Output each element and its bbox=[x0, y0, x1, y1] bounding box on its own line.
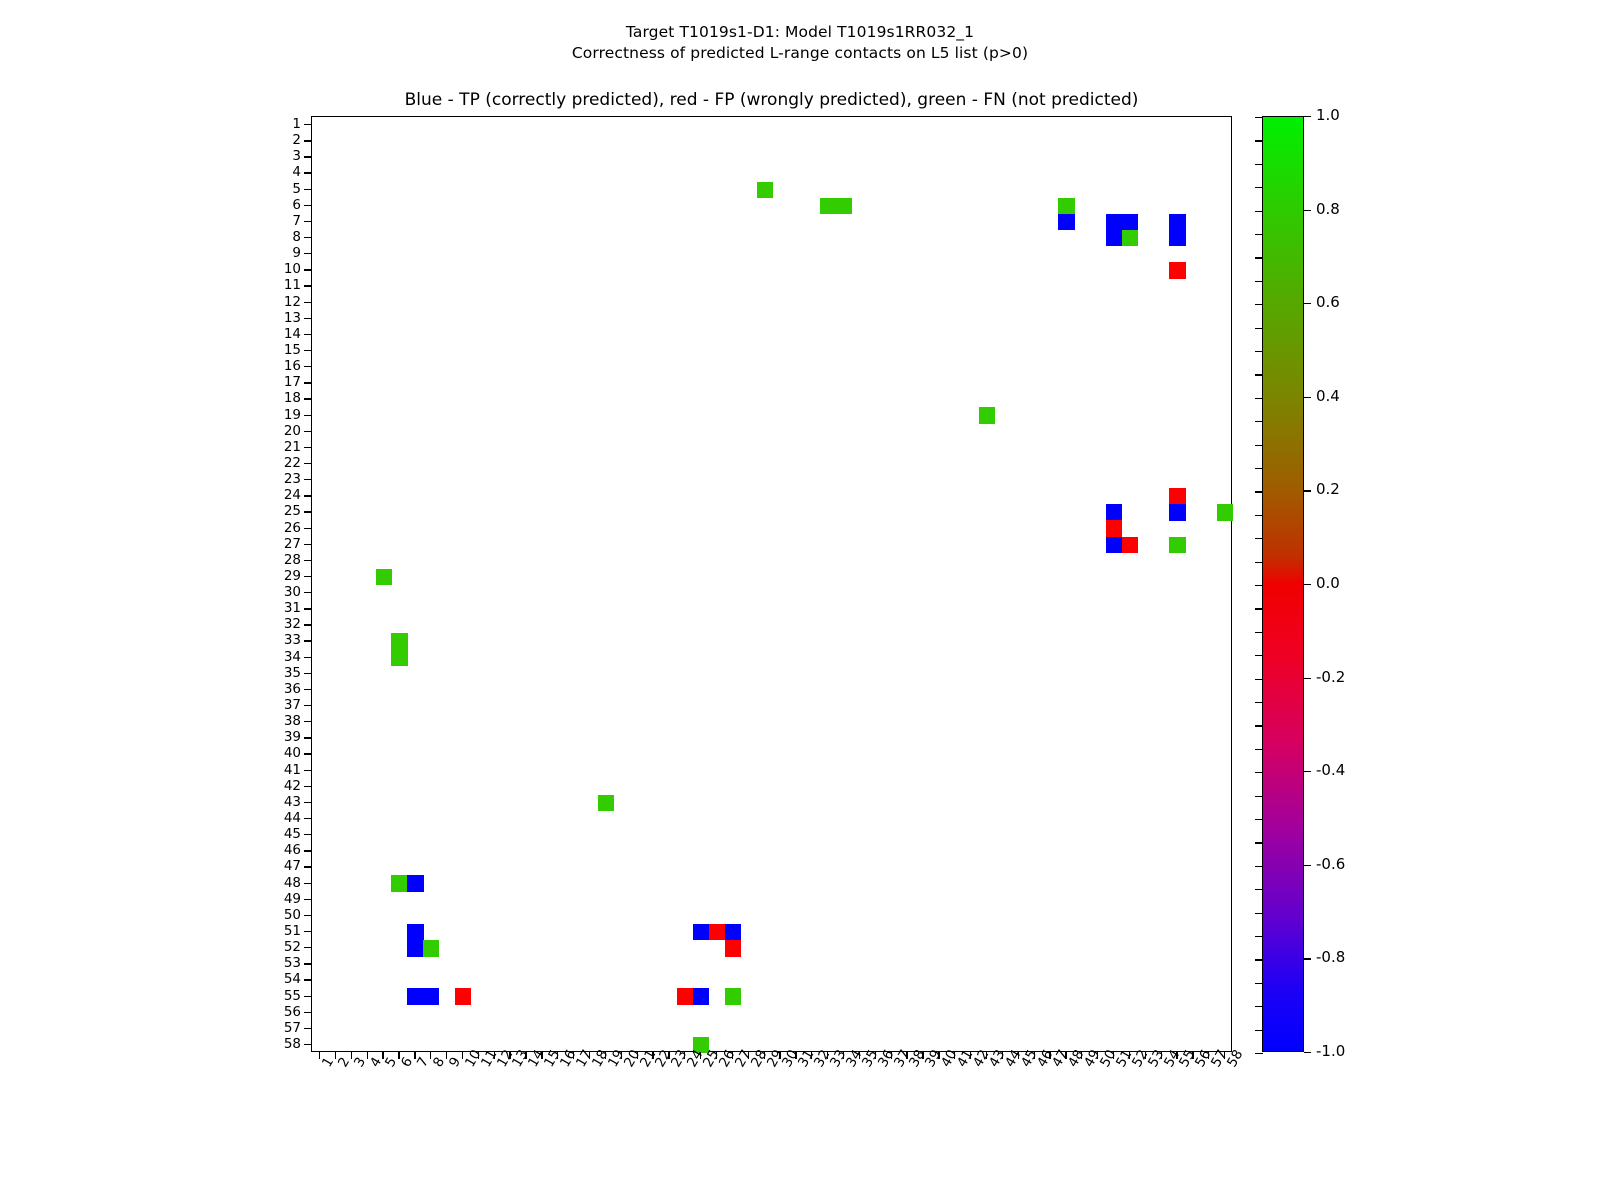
y-tick-mark bbox=[304, 608, 311, 609]
colorbar-minor-tick bbox=[1255, 1006, 1263, 1007]
colorbar-minor-tick bbox=[1255, 796, 1263, 797]
y-tick-mark bbox=[304, 915, 311, 916]
colorbar-tick-mark bbox=[1304, 397, 1311, 398]
colorbar-gradient bbox=[1262, 116, 1304, 1052]
colorbar-minor-tick bbox=[1255, 140, 1263, 141]
contact-cell bbox=[1169, 262, 1185, 279]
y-tick-mark bbox=[304, 979, 311, 980]
y-tick-mark bbox=[304, 996, 311, 997]
colorbar-minor-tick bbox=[1255, 491, 1263, 492]
colorbar-tick-mark bbox=[1304, 490, 1311, 491]
colorbar-tick-label: -0.6 bbox=[1316, 855, 1345, 873]
y-tick-mark bbox=[304, 1028, 311, 1029]
contact-cell bbox=[1169, 504, 1185, 521]
contact-cells-layer bbox=[312, 117, 1231, 1051]
y-tick-mark bbox=[304, 156, 311, 157]
contact-cell bbox=[1169, 537, 1185, 554]
y-tick-mark bbox=[304, 1044, 311, 1045]
colorbar-minor-tick bbox=[1255, 632, 1263, 633]
colorbar-minor-tick bbox=[1255, 187, 1263, 188]
colorbar-minor-tick bbox=[1255, 772, 1263, 773]
y-tick-mark bbox=[304, 253, 311, 254]
axes-title-legend: Blue - TP (correctly predicted), red - F… bbox=[311, 90, 1232, 110]
y-tick-mark bbox=[304, 431, 311, 432]
colorbar-minor-tick bbox=[1255, 538, 1263, 539]
y-tick-mark bbox=[304, 592, 311, 593]
colorbar-minor-tick bbox=[1255, 374, 1263, 375]
x-tick-mark bbox=[1145, 1052, 1146, 1059]
colorbar-minor-tick bbox=[1255, 1053, 1263, 1054]
colorbar-minor-tick bbox=[1255, 608, 1263, 609]
y-tick-mark bbox=[304, 221, 311, 222]
contact-cell bbox=[423, 940, 439, 957]
colorbar-tick-mark bbox=[1304, 584, 1311, 585]
colorbar-minor-tick bbox=[1255, 562, 1263, 563]
y-tick-mark bbox=[304, 140, 311, 141]
y-tick-mark bbox=[304, 479, 311, 480]
colorbar-minor-ticks bbox=[1249, 117, 1263, 1053]
colorbar-tick-mark bbox=[1304, 116, 1311, 117]
y-tick-mark bbox=[304, 528, 311, 529]
colorbar-minor-tick bbox=[1255, 866, 1263, 867]
y-tick-mark bbox=[304, 382, 311, 383]
y-tick-mark bbox=[304, 1012, 311, 1013]
colorbar-tick-label: -0.8 bbox=[1316, 948, 1345, 966]
colorbar-minor-tick bbox=[1255, 117, 1263, 118]
contact-cell bbox=[391, 633, 407, 650]
x-tick-mark bbox=[494, 1052, 495, 1059]
y-tick-mark bbox=[304, 883, 311, 884]
colorbar-minor-tick bbox=[1255, 211, 1263, 212]
colorbar-tick-mark bbox=[1304, 210, 1311, 211]
y-tick-mark bbox=[304, 269, 311, 270]
y-tick-mark bbox=[304, 495, 311, 496]
contact-cell bbox=[1122, 537, 1138, 554]
x-tick-mark bbox=[621, 1052, 622, 1059]
y-tick-mark bbox=[304, 544, 311, 545]
y-tick-mark bbox=[304, 931, 311, 932]
contact-cell bbox=[1106, 230, 1122, 247]
contact-map-figure: Target T1019s1-D1: Model T1019s1RR032_1 … bbox=[0, 0, 1600, 1200]
suptitle-line-1: Target T1019s1-D1: Model T1019s1RR032_1 bbox=[0, 22, 1600, 43]
colorbar-tick-label: 0.6 bbox=[1316, 293, 1340, 311]
contact-cell bbox=[709, 924, 725, 941]
y-tick-mark bbox=[304, 899, 311, 900]
colorbar-tick-mark bbox=[1304, 771, 1311, 772]
y-tick-mark bbox=[304, 963, 311, 964]
contact-map-plot-area bbox=[311, 116, 1232, 1052]
contact-cell bbox=[1169, 214, 1185, 231]
colorbar-minor-tick bbox=[1255, 257, 1263, 258]
colorbar-minor-tick bbox=[1255, 842, 1263, 843]
x-tick-mark bbox=[1034, 1052, 1035, 1059]
y-tick-mark bbox=[304, 834, 311, 835]
y-tick-mark bbox=[304, 511, 311, 512]
y-tick-mark bbox=[304, 205, 311, 206]
x-axis: 1234567891011121314151617181920212223242… bbox=[311, 1052, 1232, 1172]
y-tick-mark bbox=[304, 189, 311, 190]
contact-cell bbox=[407, 924, 423, 941]
colorbar-minor-tick bbox=[1255, 281, 1263, 282]
colorbar-minor-tick bbox=[1255, 304, 1263, 305]
contact-cell bbox=[407, 875, 423, 892]
colorbar-minor-tick bbox=[1255, 1030, 1263, 1031]
contact-cell bbox=[725, 924, 741, 941]
contact-cell bbox=[1106, 520, 1122, 537]
contact-cell bbox=[693, 924, 709, 941]
colorbar-minor-tick bbox=[1255, 351, 1263, 352]
contact-cell bbox=[407, 940, 423, 957]
y-tick-mark bbox=[304, 415, 311, 416]
contact-cell bbox=[1106, 504, 1122, 521]
colorbar-minor-tick bbox=[1255, 468, 1263, 469]
contact-cell bbox=[391, 875, 407, 892]
y-tick-mark bbox=[304, 124, 311, 125]
y-tick-mark bbox=[304, 850, 311, 851]
y-tick-mark bbox=[304, 866, 311, 867]
colorbar-minor-tick bbox=[1255, 398, 1263, 399]
colorbar-tick-mark bbox=[1304, 865, 1311, 866]
colorbar-tick-label: 0.4 bbox=[1316, 387, 1340, 405]
y-tick-mark bbox=[304, 172, 311, 173]
colorbar-minor-tick bbox=[1255, 702, 1263, 703]
colorbar-minor-tick bbox=[1255, 515, 1263, 516]
colorbar-minor-tick bbox=[1255, 725, 1263, 726]
contact-cell bbox=[598, 795, 614, 812]
y-tick-mark bbox=[304, 753, 311, 754]
y-tick-mark bbox=[304, 350, 311, 351]
contact-cell bbox=[1122, 230, 1138, 247]
y-tick-mark bbox=[304, 463, 311, 464]
y-tick-label: 58 bbox=[284, 1035, 301, 1053]
y-tick-mark bbox=[304, 398, 311, 399]
colorbar-tick-mark bbox=[1304, 1052, 1311, 1053]
colorbar-minor-tick bbox=[1255, 913, 1263, 914]
x-tick-mark bbox=[891, 1052, 892, 1059]
y-tick-mark bbox=[304, 302, 311, 303]
contact-cell bbox=[693, 988, 709, 1005]
colorbar-minor-tick bbox=[1255, 936, 1263, 937]
colorbar-tick-label: 1.0 bbox=[1316, 106, 1340, 124]
y-tick-mark bbox=[304, 737, 311, 738]
colorbar-tick-labels: 1.00.80.60.40.20.0-0.2-0.4-0.6-0.8-1.0 bbox=[1304, 116, 1394, 1052]
colorbar-tick-label: 0.8 bbox=[1316, 200, 1340, 218]
y-tick-mark bbox=[304, 786, 311, 787]
x-tick-mark bbox=[764, 1052, 765, 1059]
y-tick-mark bbox=[304, 770, 311, 771]
x-tick-mark bbox=[1161, 1052, 1162, 1059]
x-tick-mark bbox=[367, 1052, 368, 1059]
x-tick-mark bbox=[748, 1052, 749, 1059]
y-tick-mark bbox=[304, 285, 311, 286]
x-tick-mark bbox=[637, 1052, 638, 1059]
suptitle-line-2: Correctness of predicted L-range contact… bbox=[0, 43, 1600, 64]
colorbar-minor-tick bbox=[1255, 959, 1263, 960]
contact-cell bbox=[820, 198, 836, 215]
contact-cell bbox=[455, 988, 471, 1005]
y-axis: 1234567891011121314151617181920212223242… bbox=[0, 116, 311, 1052]
y-tick-mark bbox=[304, 818, 311, 819]
colorbar-minor-tick bbox=[1255, 679, 1263, 680]
colorbar-minor-tick bbox=[1255, 234, 1263, 235]
y-tick-mark bbox=[304, 576, 311, 577]
contact-cell bbox=[725, 988, 741, 1005]
y-tick-mark bbox=[304, 447, 311, 448]
contact-cell bbox=[1169, 230, 1185, 247]
contact-cell bbox=[1169, 488, 1185, 505]
contact-cell bbox=[407, 988, 423, 1005]
colorbar-tick-label: 0.2 bbox=[1316, 480, 1340, 498]
contact-cell bbox=[757, 182, 773, 199]
y-tick-mark bbox=[304, 334, 311, 335]
colorbar-tick-mark bbox=[1304, 958, 1311, 959]
colorbar-tick-label: 0.0 bbox=[1316, 574, 1340, 592]
contact-cell bbox=[836, 198, 852, 215]
colorbar-minor-tick bbox=[1255, 421, 1263, 422]
y-tick-mark bbox=[304, 318, 311, 319]
colorbar-minor-tick bbox=[1255, 889, 1263, 890]
y-tick-mark bbox=[304, 624, 311, 625]
colorbar-minor-tick bbox=[1255, 328, 1263, 329]
colorbar: 1.00.80.60.40.20.0-0.2-0.4-0.6-0.8-1.0 bbox=[1262, 116, 1304, 1052]
colorbar-minor-tick bbox=[1255, 585, 1263, 586]
y-tick-mark bbox=[304, 640, 311, 641]
contact-cell bbox=[1106, 537, 1122, 554]
y-tick-mark bbox=[304, 673, 311, 674]
y-tick-mark bbox=[304, 947, 311, 948]
colorbar-minor-tick bbox=[1255, 819, 1263, 820]
colorbar-tick-mark bbox=[1304, 678, 1311, 679]
contact-cell bbox=[391, 650, 407, 667]
y-tick-mark bbox=[304, 560, 311, 561]
contact-cell bbox=[979, 407, 995, 424]
y-tick-mark bbox=[304, 237, 311, 238]
colorbar-tick-label: -0.2 bbox=[1316, 668, 1345, 686]
y-tick-mark bbox=[304, 657, 311, 658]
colorbar-minor-tick bbox=[1255, 655, 1263, 656]
colorbar-minor-tick bbox=[1255, 749, 1263, 750]
contact-cell bbox=[1122, 214, 1138, 231]
colorbar-tick-label: -0.4 bbox=[1316, 761, 1345, 779]
y-tick-mark bbox=[304, 705, 311, 706]
contact-cell bbox=[1217, 504, 1233, 521]
contact-cell bbox=[1106, 214, 1122, 231]
y-tick-mark bbox=[304, 802, 311, 803]
contact-cell bbox=[1058, 214, 1074, 231]
colorbar-minor-tick bbox=[1255, 445, 1263, 446]
contact-cell bbox=[376, 569, 392, 586]
x-tick-mark bbox=[1018, 1052, 1019, 1059]
figure-suptitle: Target T1019s1-D1: Model T1019s1RR032_1 … bbox=[0, 22, 1600, 64]
y-tick-mark bbox=[304, 721, 311, 722]
contact-cell bbox=[1058, 198, 1074, 215]
y-tick-mark bbox=[304, 366, 311, 367]
colorbar-minor-tick bbox=[1255, 164, 1263, 165]
contact-cell bbox=[423, 988, 439, 1005]
colorbar-tick-mark bbox=[1304, 303, 1311, 304]
contact-cell bbox=[677, 988, 693, 1005]
colorbar-minor-tick bbox=[1255, 983, 1263, 984]
y-tick-mark bbox=[304, 689, 311, 690]
contact-cell bbox=[725, 940, 741, 957]
colorbar-tick-label: -1.0 bbox=[1316, 1042, 1345, 1060]
